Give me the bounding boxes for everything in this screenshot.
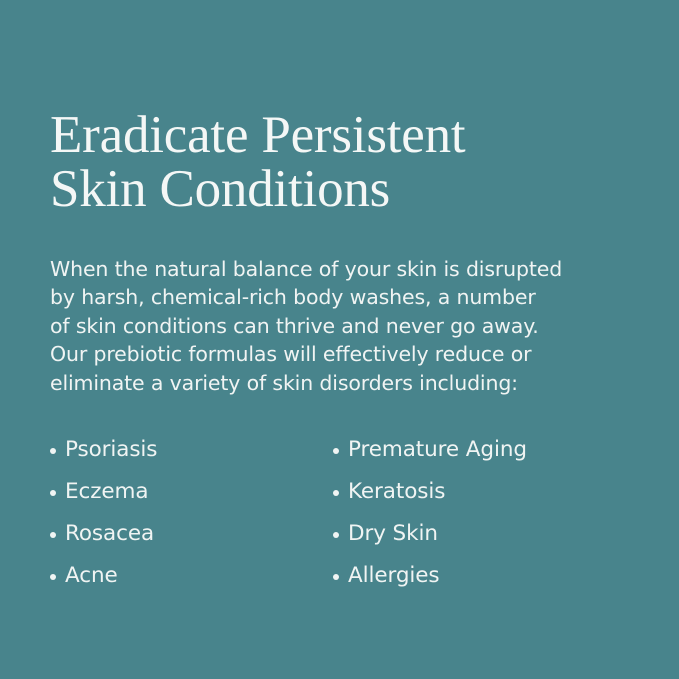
list-item-label: Acne xyxy=(65,555,118,597)
list-item-label: Psoriasis xyxy=(65,429,157,471)
list-item-label: Rosacea xyxy=(65,513,154,555)
conditions-list-right: Premature Aging Keratosis Dry Skin Aller… xyxy=(333,429,616,597)
list-item: Acne xyxy=(50,555,333,597)
list-item-label: Allergies xyxy=(348,555,440,597)
list-item-label: Keratosis xyxy=(348,471,445,513)
conditions-list-left: Psoriasis Eczema Rosacea Acne xyxy=(50,429,333,597)
body-paragraph: When the natural balance of your skin is… xyxy=(50,216,630,397)
list-item: Dry Skin xyxy=(333,513,616,555)
conditions-lists: Psoriasis Eczema Rosacea Acne xyxy=(50,397,630,597)
list-item: Rosacea xyxy=(50,513,333,555)
list-item: Premature Aging xyxy=(333,429,616,471)
list-item: Allergies xyxy=(333,555,616,597)
list-item-label: Eczema xyxy=(65,471,148,513)
content-container: Eradicate Persistent Skin Conditions Whe… xyxy=(50,0,630,597)
list-item: Keratosis xyxy=(333,471,616,513)
promotional-card: Eradicate Persistent Skin Conditions Whe… xyxy=(0,0,679,679)
list-item: Eczema xyxy=(50,471,333,513)
list-item-label: Dry Skin xyxy=(348,513,438,555)
list-item-label: Premature Aging xyxy=(348,429,527,471)
page-title: Eradicate Persistent Skin Conditions xyxy=(50,0,630,216)
list-item: Psoriasis xyxy=(50,429,333,471)
